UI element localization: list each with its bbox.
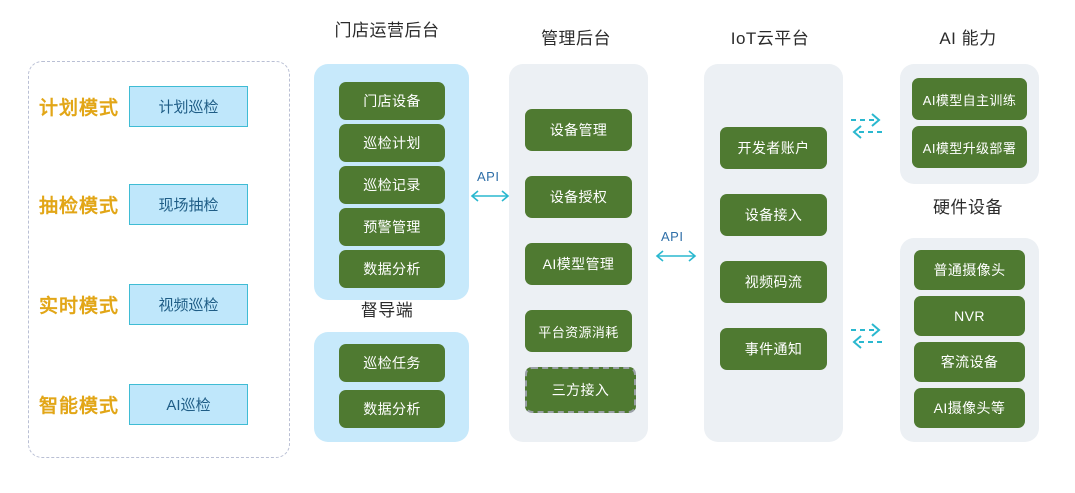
chip-video-stream[interactable]: 视频码流 xyxy=(720,261,827,303)
mode-row-smart[interactable]: 智能模式 AI巡检 xyxy=(39,384,248,425)
column-title-admin: 管理后台 xyxy=(506,28,646,50)
chip-inspection-plan[interactable]: 巡检计划 xyxy=(339,124,445,162)
chip-device-management[interactable]: 设备管理 xyxy=(525,109,632,151)
chip-third-party-access[interactable]: 三方接入 xyxy=(525,367,636,413)
chip-device-authorization[interactable]: 设备授权 xyxy=(525,176,632,218)
chip-ai-camera-etc[interactable]: AI摄像头等 xyxy=(914,388,1025,428)
diagram-canvas: 门店运营后台 管理后台 IoT云平台 AI 能力 督导端 硬件设备 计划模式 计… xyxy=(0,0,1075,493)
panel-ai: AI模型自主训练 AI模型升级部署 xyxy=(900,64,1039,184)
column-title-iot: IoT云平台 xyxy=(700,28,840,50)
api-label-1: API xyxy=(477,169,499,184)
mode-label-spot: 抽检模式 xyxy=(39,191,119,218)
chip-people-flow-device[interactable]: 客流设备 xyxy=(914,342,1025,382)
dashed-arrow-1 xyxy=(848,112,886,140)
api-arrow-2 xyxy=(651,248,701,264)
mode-row-spot[interactable]: 抽检模式 现场抽检 xyxy=(39,184,248,225)
column-title-hardware: 硬件设备 xyxy=(898,197,1038,219)
panel-admin: 设备管理 设备授权 AI模型管理 平台资源消耗 三方接入 xyxy=(509,64,648,442)
mode-box-plan[interactable]: 计划巡检 xyxy=(129,86,248,127)
chip-event-notification[interactable]: 事件通知 xyxy=(720,328,827,370)
column-title-ai: AI 能力 xyxy=(898,28,1038,50)
chip-ai-model-self-training[interactable]: AI模型自主训练 xyxy=(912,78,1027,120)
chip-normal-camera[interactable]: 普通摄像头 xyxy=(914,250,1025,290)
panel-iot: 开发者账户 设备接入 视频码流 事件通知 xyxy=(704,64,843,442)
mode-box-spot[interactable]: 现场抽检 xyxy=(129,184,248,225)
chip-ai-model-management[interactable]: AI模型管理 xyxy=(525,243,632,285)
chip-inspection-record[interactable]: 巡检记录 xyxy=(339,166,445,204)
mode-label-plan: 计划模式 xyxy=(39,93,119,120)
mode-row-realtime[interactable]: 实时模式 视频巡检 xyxy=(39,284,248,325)
api-label-2: API xyxy=(661,229,683,244)
chip-alert-management[interactable]: 预警管理 xyxy=(339,208,445,246)
mode-label-smart: 智能模式 xyxy=(39,391,119,418)
chip-device-access[interactable]: 设备接入 xyxy=(720,194,827,236)
mode-box-realtime[interactable]: 视频巡检 xyxy=(129,284,248,325)
chip-developer-account[interactable]: 开发者账户 xyxy=(720,127,827,169)
mode-panel: 计划模式 计划巡检 抽检模式 现场抽检 实时模式 视频巡检 智能模式 AI巡检 xyxy=(28,61,290,458)
panel-store-ops: 门店设备 巡检计划 巡检记录 预警管理 数据分析 xyxy=(314,64,469,300)
mode-label-realtime: 实时模式 xyxy=(39,291,119,318)
chip-inspection-task[interactable]: 巡检任务 xyxy=(339,344,445,382)
api-arrow-1 xyxy=(466,188,514,204)
chip-platform-resource-usage[interactable]: 平台资源消耗 xyxy=(525,310,632,352)
mode-box-smart[interactable]: AI巡检 xyxy=(129,384,248,425)
column-title-store-ops: 门店运营后台 xyxy=(312,20,462,42)
panel-hardware: 普通摄像头 NVR 客流设备 AI摄像头等 xyxy=(900,238,1039,442)
mode-row-plan[interactable]: 计划模式 计划巡检 xyxy=(39,86,248,127)
column-title-supervisor: 督导端 xyxy=(312,300,462,322)
chip-ai-model-upgrade-deploy[interactable]: AI模型升级部署 xyxy=(912,126,1027,168)
chip-store-device[interactable]: 门店设备 xyxy=(339,82,445,120)
chip-nvr[interactable]: NVR xyxy=(914,296,1025,336)
dashed-arrow-2 xyxy=(848,322,886,350)
panel-supervisor: 巡检任务 数据分析 xyxy=(314,332,469,442)
chip-data-analysis[interactable]: 数据分析 xyxy=(339,250,445,288)
chip-supervisor-data-analysis[interactable]: 数据分析 xyxy=(339,390,445,428)
